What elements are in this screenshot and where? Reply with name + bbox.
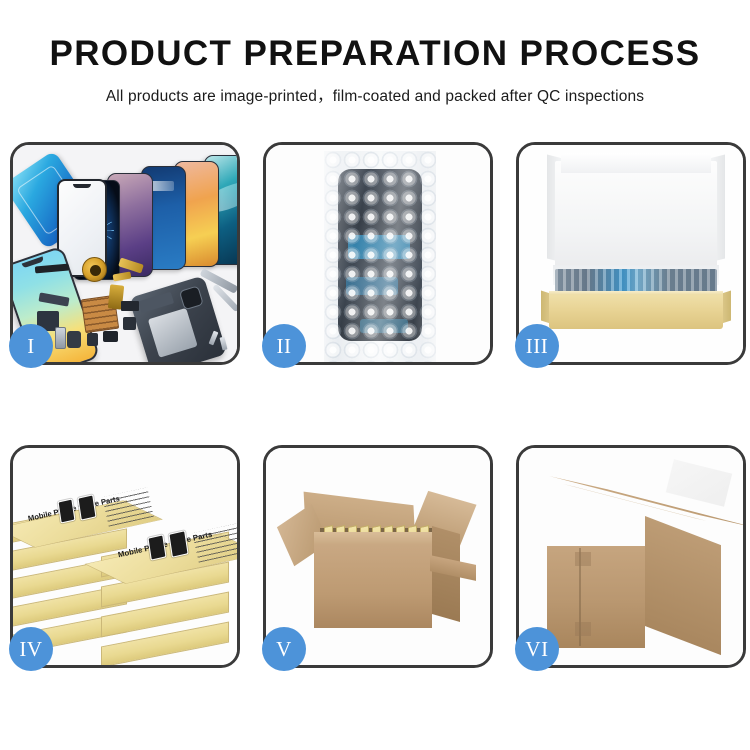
- step-3-image: [519, 145, 743, 362]
- page-subtitle: All products are image-printed，film-coat…: [0, 84, 750, 106]
- carton-front-panel: [314, 544, 432, 628]
- process-step-panel-4[interactable]: Mobile Phone Spare Parts Mobile Phone Sp…: [10, 445, 240, 668]
- step-2-image: [266, 145, 490, 362]
- step-6-image: [519, 448, 743, 665]
- box-screen-graphic-1: [58, 498, 76, 523]
- process-step-panel-6[interactable]: VI: [516, 445, 746, 668]
- step-badge-6: VI: [515, 627, 559, 671]
- step-badge-1: I: [9, 324, 53, 368]
- box-screen-graphic-2: [77, 494, 96, 520]
- chip-part-3: [103, 331, 118, 342]
- camera-part: [67, 331, 81, 348]
- spare-parts-cluster: [13, 145, 237, 362]
- kraft-box-stack: Mobile Phone Spare Parts Mobile Phone Sp…: [13, 448, 237, 665]
- bubble-wrap-sheet: [324, 151, 436, 362]
- film-gloss: [324, 151, 436, 362]
- step-4-image: Mobile Phone Spare Parts Mobile Phone Sp…: [13, 448, 237, 665]
- step-badge-5: V: [262, 627, 306, 671]
- sealed-carton-front: [547, 546, 645, 648]
- gold-flex-part-1: [118, 258, 144, 274]
- sim-tray-part: [55, 327, 66, 349]
- speaker-coil-part: [82, 257, 107, 282]
- screw-part-2: [220, 337, 228, 351]
- step-badge-4: IV: [9, 627, 53, 671]
- box-screen-graphic-3: [147, 534, 166, 560]
- page-header: PRODUCT PREPARATION PROCESS All products…: [0, 0, 750, 106]
- process-step-panel-1[interactable]: I: [10, 142, 240, 365]
- step-badge-3: III: [515, 324, 559, 368]
- earpiece-bar-part: [35, 264, 69, 274]
- box-screen-graphic-4: [168, 530, 188, 557]
- mailer-lid-top: [561, 153, 711, 173]
- screw-part-1: [209, 331, 219, 346]
- chip-part-1: [121, 301, 139, 311]
- step-1-image: [13, 145, 237, 362]
- page-title: PRODUCT PREPARATION PROCESS: [0, 36, 750, 73]
- mailer-back-wall: [555, 161, 717, 277]
- carton-tab-top: [575, 552, 591, 566]
- step-badge-2: II: [262, 324, 306, 368]
- gold-flex-part-2: [113, 271, 132, 281]
- carton-tab-bottom: [575, 622, 591, 636]
- chip-part-2: [123, 317, 136, 330]
- process-step-panel-3[interactable]: III: [516, 142, 746, 365]
- step-5-image: [266, 448, 490, 665]
- chip-part-4: [87, 333, 98, 346]
- process-step-grid: I II: [10, 142, 740, 668]
- mailer-front-panel: [549, 295, 723, 329]
- process-step-panel-5[interactable]: V: [263, 445, 493, 668]
- process-step-panel-2[interactable]: II: [263, 142, 493, 365]
- flex-cable-part-1: [38, 292, 69, 306]
